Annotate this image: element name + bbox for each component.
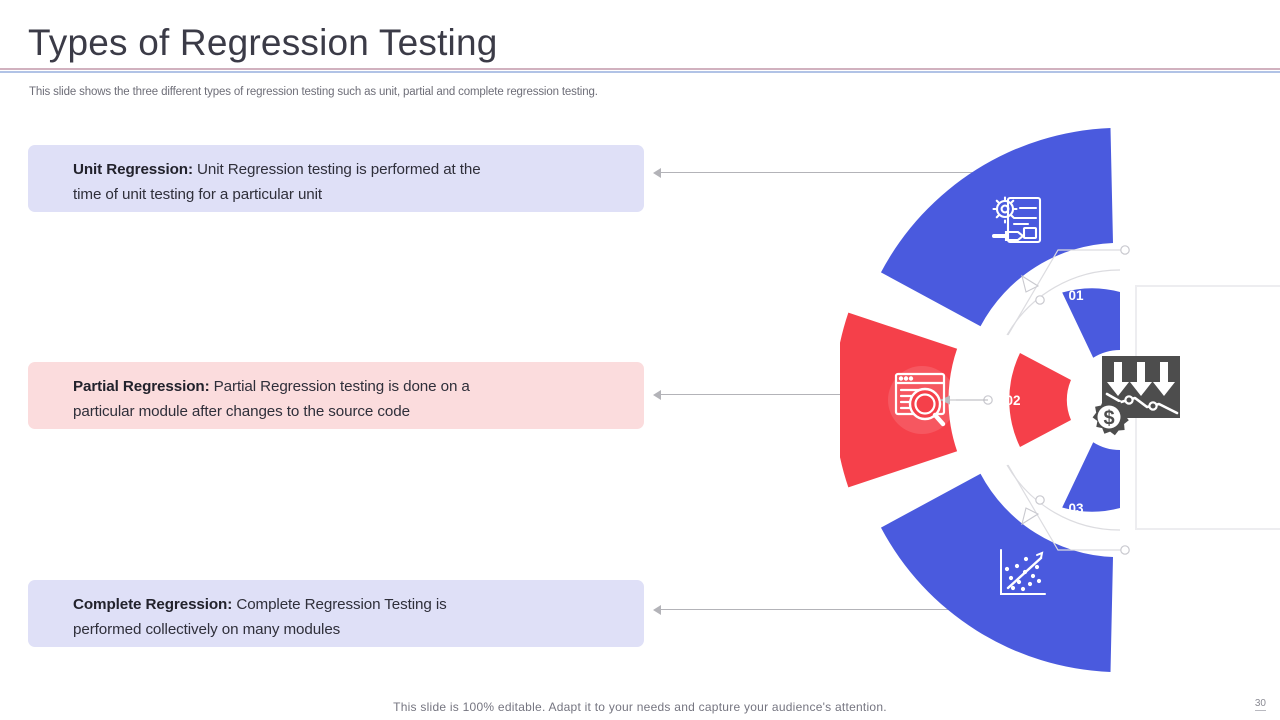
segment-number-03: 03 [1068, 501, 1084, 516]
page-subtitle: This slide shows the three different typ… [29, 86, 598, 98]
complete-regression-lead: Complete Regression: [73, 596, 232, 613]
partial-regression-line-2: particular module after changes to the s… [73, 399, 644, 424]
node-bottom-arc [1036, 496, 1044, 504]
unit-regression-card[interactable]: Unit Regression: Unit Regression testing… [28, 145, 644, 212]
partial-regression-line-1: Partial Regression: Partial Regression t… [73, 374, 644, 399]
unit-regression-lead: Unit Regression: [73, 161, 193, 178]
complete-regression-line-1: Complete Regression: Complete Regression… [73, 592, 644, 617]
down-arrows [1107, 362, 1175, 396]
unit-regression-line-2: time of unit testing for a particular un… [73, 182, 644, 207]
arrowhead-top-icon [1022, 276, 1038, 292]
title-divider-pink [0, 68, 1280, 70]
browser-magnifier-icon [888, 366, 956, 434]
footer-note: This slide is 100% editable. Adapt it to… [0, 700, 1280, 714]
unit-regression-text-1: Unit Regression testing is performed at … [193, 161, 481, 178]
unit-regression-line-1: Unit Regression: Unit Regression testing… [73, 157, 644, 182]
node-top-arc [1036, 296, 1044, 304]
declining-chart-dollar-gear-icon: $ [1085, 350, 1195, 450]
page-title: Types of Regression Testing [28, 22, 498, 64]
title-divider-blue [0, 71, 1280, 73]
page-number: 30 [1255, 698, 1266, 711]
node-top-end [1121, 246, 1129, 254]
partial-regression-lead: Partial Regression: [73, 378, 210, 395]
complete-regression-line-2: performed collectively on many modules [73, 617, 644, 642]
svg-text:$: $ [1103, 408, 1114, 430]
partial-regression-card[interactable]: Partial Regression: Partial Regression t… [28, 362, 644, 429]
arrowhead-bottom-icon [1022, 508, 1038, 524]
partial-regression-text-1: Partial Regression testing is done on a [210, 378, 470, 395]
segment-number-02: 02 [1005, 393, 1020, 408]
complete-regression-text-1: Complete Regression Testing is [232, 596, 446, 613]
segment-number-01: 01 [1068, 288, 1084, 303]
complete-regression-card[interactable]: Complete Regression: Complete Regression… [28, 580, 644, 647]
node-bottom-end [1121, 546, 1129, 554]
